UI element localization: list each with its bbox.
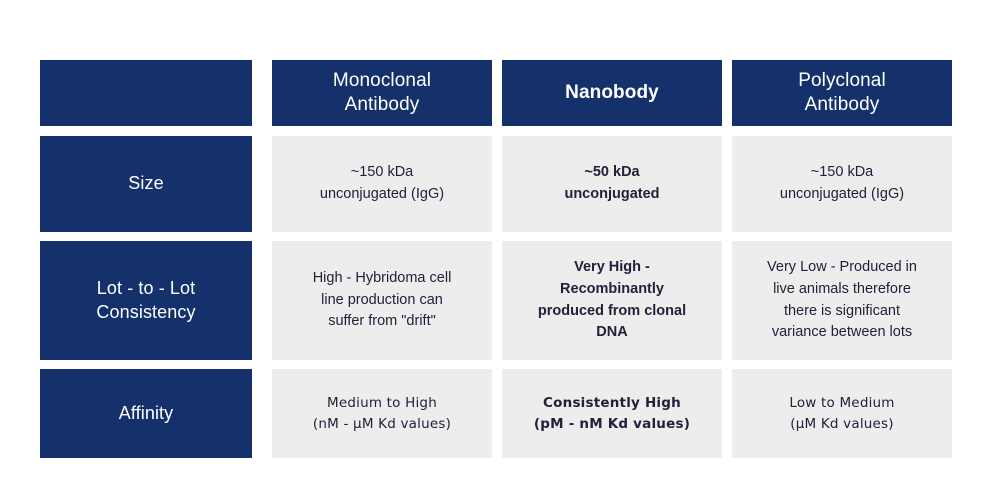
row-label-affinity: Affinity — [40, 369, 252, 458]
row-gap — [40, 360, 960, 369]
column-gap — [252, 136, 272, 232]
table-row: Size ~150 kDa unconjugated (IgG) ~50 kDa… — [40, 136, 960, 232]
cell-consistency-polyclonal: Very Low - Produced in live animals ther… — [732, 241, 952, 360]
header-cell-monoclonal: Monoclonal Antibody — [272, 60, 492, 126]
table-header-row: Monoclonal Antibody Nanobody Polyclonal … — [40, 60, 960, 126]
cell-text: ~150 kDa unconjugated (IgG) — [780, 162, 904, 206]
column-gap — [722, 241, 732, 360]
cell-text: Very High - Recombinantly produced from … — [538, 257, 686, 344]
cell-text: Low to Medium (μM Kd values) — [789, 393, 894, 434]
header-cell-nanobody: Nanobody — [502, 60, 722, 126]
row-gap — [40, 232, 960, 241]
column-gap — [492, 241, 502, 360]
table-row: Affinity Medium to High (nM - μM Kd valu… — [40, 369, 960, 458]
cell-text: High - Hybridoma cell line production ca… — [313, 268, 452, 333]
cell-size-monoclonal: ~150 kDa unconjugated (IgG) — [272, 136, 492, 232]
cell-affinity-monoclonal: Medium to High (nM - μM Kd values) — [272, 369, 492, 458]
cell-size-polyclonal: ~150 kDa unconjugated (IgG) — [732, 136, 952, 232]
row-label-lot-to-lot-consistency: Lot - to - Lot Consistency — [40, 241, 252, 360]
column-gap — [722, 60, 732, 126]
row-label-size: Size — [40, 136, 252, 232]
row-gap — [40, 126, 960, 136]
row-label-text: Size — [128, 172, 163, 195]
column-gap — [492, 60, 502, 126]
column-gap — [252, 369, 272, 458]
column-gap — [722, 369, 732, 458]
cell-text: ~150 kDa unconjugated (IgG) — [320, 162, 444, 206]
header-cell-attribute — [40, 60, 252, 126]
column-gap — [252, 241, 272, 360]
cell-affinity-polyclonal: Low to Medium (μM Kd values) — [732, 369, 952, 458]
table-row: Lot - to - Lot Consistency High - Hybrid… — [40, 241, 960, 360]
column-gap — [492, 369, 502, 458]
cell-text: Medium to High (nM - μM Kd values) — [313, 393, 451, 434]
cell-consistency-nanobody: Very High - Recombinantly produced from … — [502, 241, 722, 360]
cell-text: Consistently High (pM - nM Kd values) — [534, 393, 690, 434]
cell-text: Very Low - Produced in live animals ther… — [767, 257, 917, 344]
column-gap — [722, 136, 732, 232]
header-label-nanobody: Nanobody — [565, 81, 659, 105]
header-cell-polyclonal: Polyclonal Antibody — [732, 60, 952, 126]
comparison-table: Monoclonal Antibody Nanobody Polyclonal … — [40, 60, 960, 465]
header-label-polyclonal: Polyclonal Antibody — [798, 69, 886, 118]
cell-consistency-monoclonal: High - Hybridoma cell line production ca… — [272, 241, 492, 360]
cell-size-nanobody: ~50 kDa unconjugated — [502, 136, 722, 232]
header-label-monoclonal: Monoclonal Antibody — [333, 69, 431, 118]
cell-text: ~50 kDa unconjugated — [564, 162, 659, 206]
row-label-text: Lot - to - Lot Consistency — [96, 277, 195, 324]
row-label-text: Affinity — [119, 402, 174, 425]
column-gap — [492, 136, 502, 232]
cell-affinity-nanobody: Consistently High (pM - nM Kd values) — [502, 369, 722, 458]
column-gap — [252, 60, 272, 126]
